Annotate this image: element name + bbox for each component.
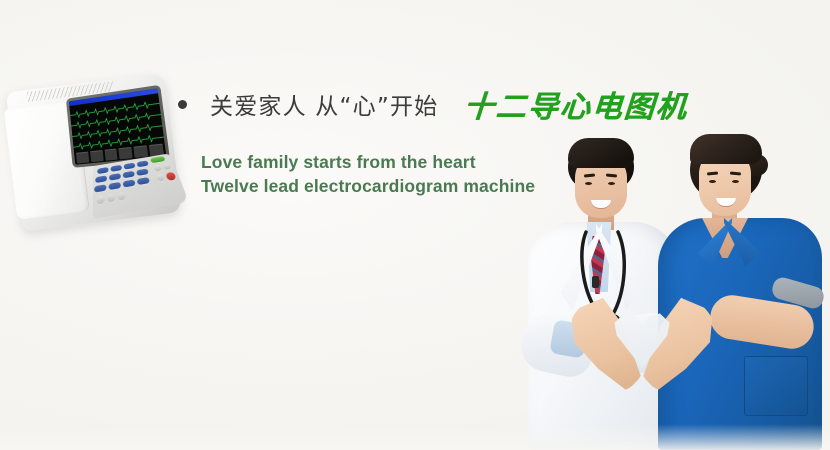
bullet-dot-dark-icon xyxy=(178,100,187,109)
device-stop-key xyxy=(165,172,176,181)
device-start-key xyxy=(150,156,165,163)
english-line-2: Twelve lead electrocardiogram machine xyxy=(201,174,535,198)
english-subline: Love family starts from the heart Twelve… xyxy=(201,150,535,198)
nurse-eye-left xyxy=(709,180,716,183)
nurse-brow-left xyxy=(707,172,718,175)
medical-staff-photo xyxy=(500,120,830,450)
heart-hands-gesture xyxy=(568,296,716,408)
doctor-brow-right xyxy=(606,173,617,177)
product-banner: 关爱家人 从“心”开始 十二导心电图机 Love family starts f… xyxy=(0,0,830,450)
nurse-hair-front xyxy=(690,134,762,164)
nurse-smile xyxy=(716,198,736,207)
english-line-1: Love family starts from the heart xyxy=(201,150,535,174)
device-screen xyxy=(69,88,166,165)
doctor-eye-right xyxy=(608,182,615,185)
doctor-eye-left xyxy=(585,182,592,185)
ecg-machine-image xyxy=(0,62,192,247)
nurse-scrub-pocket xyxy=(744,356,808,416)
doctor-hair-front xyxy=(568,138,634,168)
chinese-tagline: 关爱家人 从“心”开始 xyxy=(210,87,438,121)
doctor-smile xyxy=(591,200,611,209)
nurse-eye-right xyxy=(732,180,739,183)
doctor-brow-left xyxy=(584,173,595,177)
nurse-brow-right xyxy=(730,172,741,175)
